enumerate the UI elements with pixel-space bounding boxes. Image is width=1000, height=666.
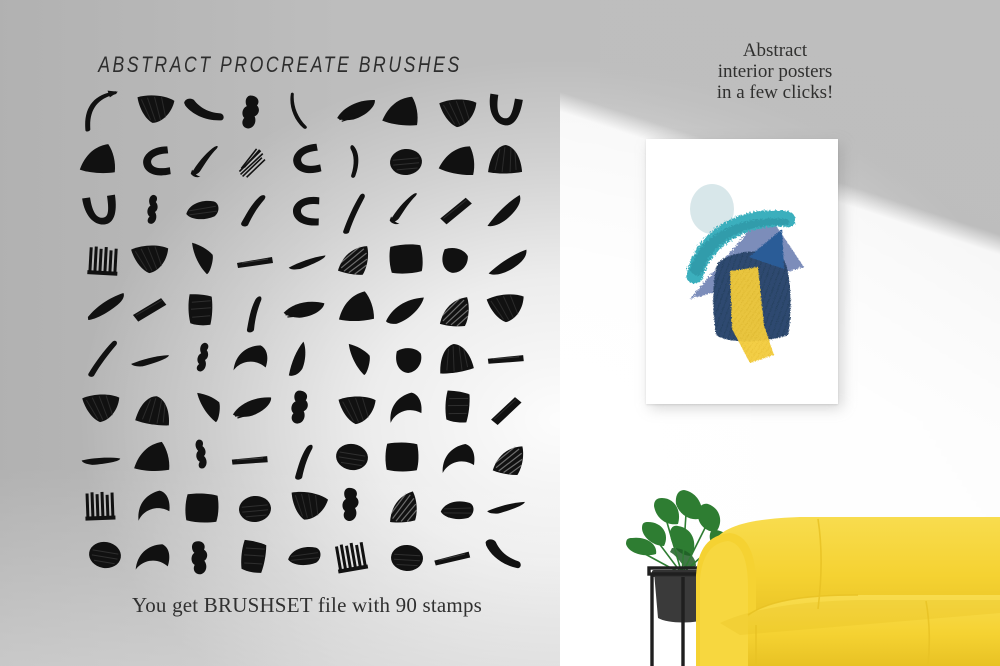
brush-stamp bbox=[128, 433, 177, 480]
brush-stamp bbox=[227, 530, 280, 581]
brush-stamp bbox=[280, 87, 329, 134]
brush-stamp bbox=[281, 531, 330, 578]
brush-stamp bbox=[126, 478, 181, 532]
brush-stamp bbox=[280, 235, 334, 287]
brush-stamp bbox=[277, 132, 332, 186]
brush-stamp bbox=[324, 530, 379, 583]
brush-stamp bbox=[73, 184, 127, 237]
brush-stamp bbox=[431, 287, 479, 333]
brush-stamp bbox=[129, 187, 180, 237]
brush-stamp bbox=[176, 285, 225, 332]
brush-stamp bbox=[77, 331, 129, 381]
brush-stamp bbox=[328, 136, 378, 184]
brush-stamp bbox=[327, 186, 380, 237]
brush-stamp bbox=[279, 284, 330, 333]
brush-stamp bbox=[229, 483, 281, 533]
brush-stamp bbox=[383, 337, 432, 384]
brush-stamp bbox=[228, 284, 283, 337]
brush-stamp bbox=[427, 331, 482, 384]
brush-stamp bbox=[128, 135, 181, 187]
brush-stamp bbox=[281, 480, 335, 532]
brush-stamp bbox=[332, 385, 382, 433]
brush-stamp bbox=[125, 334, 175, 382]
headline-line-3: in a few clicks! bbox=[655, 82, 895, 103]
brush-stamp bbox=[431, 432, 484, 484]
brush-stamp bbox=[226, 87, 279, 139]
yellow-sofa bbox=[690, 505, 1000, 666]
brush-stamp bbox=[480, 135, 528, 181]
brush-stamp bbox=[476, 528, 530, 580]
brush-stamp bbox=[432, 88, 483, 137]
brush-stamp bbox=[177, 429, 231, 482]
brush-stamp bbox=[227, 334, 277, 382]
poster-mockup-scene: ABSTRACT PROCREATE BRUSHES You get BRUSH… bbox=[0, 0, 1000, 666]
brush-stamp bbox=[280, 186, 329, 233]
poster-artwork bbox=[646, 139, 838, 404]
brush-stamp bbox=[382, 534, 432, 583]
brush-stamp bbox=[379, 184, 432, 235]
brush-stamp bbox=[376, 481, 430, 534]
headline-line-2: interior posters bbox=[655, 61, 895, 82]
brush-stamp bbox=[225, 433, 276, 482]
brush-stamp bbox=[329, 83, 383, 136]
brush-stamp-grid bbox=[78, 88, 536, 583]
brush-stamp bbox=[125, 281, 178, 332]
brush-stamp bbox=[380, 137, 432, 187]
brush-stamp bbox=[378, 432, 427, 479]
brush-stamp bbox=[379, 283, 433, 336]
brush-stamp bbox=[176, 483, 226, 531]
brush-stamp bbox=[178, 185, 229, 234]
brush-stamp bbox=[75, 135, 124, 182]
brush-stamp bbox=[476, 183, 531, 236]
brush-stamp bbox=[432, 133, 486, 185]
brush-stamp bbox=[228, 136, 278, 184]
brush-stamp bbox=[229, 181, 284, 234]
brush-stamp bbox=[477, 83, 532, 136]
brush-stamp bbox=[377, 86, 428, 135]
brush-stamp bbox=[481, 383, 533, 433]
brush-stamp bbox=[79, 237, 129, 286]
brush-stamp bbox=[232, 237, 280, 283]
brush-stamp bbox=[481, 482, 532, 531]
headline-line-1: Abstract bbox=[655, 40, 895, 61]
brush-stamp bbox=[180, 137, 233, 188]
brush-stamp bbox=[177, 333, 232, 387]
brush-stamp bbox=[275, 331, 328, 382]
brush-stamp bbox=[481, 332, 532, 381]
brush-stamp bbox=[329, 482, 377, 528]
brush-stamp bbox=[328, 234, 380, 284]
brush-stamp bbox=[77, 528, 132, 581]
sofa-artwork bbox=[690, 505, 1000, 666]
page-title: ABSTRACT PROCREATE BRUSHES bbox=[56, 52, 504, 78]
brush-stamp bbox=[483, 237, 532, 284]
brush-stamp bbox=[483, 434, 536, 485]
brush-stamp bbox=[377, 380, 433, 434]
brush-stamp bbox=[130, 85, 180, 133]
brush-stamp bbox=[182, 384, 231, 431]
brush-stamp bbox=[75, 433, 128, 485]
brush-stamp bbox=[330, 333, 383, 385]
brush-stamp bbox=[332, 282, 383, 332]
brush-stamp bbox=[432, 184, 481, 231]
brush-stamp bbox=[433, 382, 483, 430]
brush-stamp bbox=[76, 482, 126, 530]
brush-stamp bbox=[432, 484, 483, 534]
brush-stamp bbox=[380, 233, 430, 282]
brush-stamp bbox=[427, 233, 482, 286]
brush-stamp bbox=[129, 533, 178, 580]
marketing-headline: Abstract interior posters in a few click… bbox=[655, 40, 895, 103]
brush-stamp bbox=[225, 380, 278, 432]
brush-stamp bbox=[276, 383, 328, 433]
brush-stamp bbox=[125, 234, 177, 284]
brush-stamp bbox=[178, 86, 230, 136]
brush-stamp bbox=[428, 531, 480, 581]
brush-stamp bbox=[75, 383, 126, 432]
brush-stamp bbox=[281, 434, 332, 483]
brush-stamp bbox=[74, 83, 130, 137]
brush-stamp bbox=[176, 532, 229, 583]
brush-stamp bbox=[173, 231, 227, 283]
brush-stamp bbox=[479, 282, 533, 334]
brush-stamp bbox=[127, 383, 181, 436]
brushset-caption: You get BRUSHSET file with 90 stamps bbox=[0, 593, 614, 618]
abstract-poster bbox=[646, 139, 838, 404]
brush-stamp bbox=[325, 430, 380, 483]
